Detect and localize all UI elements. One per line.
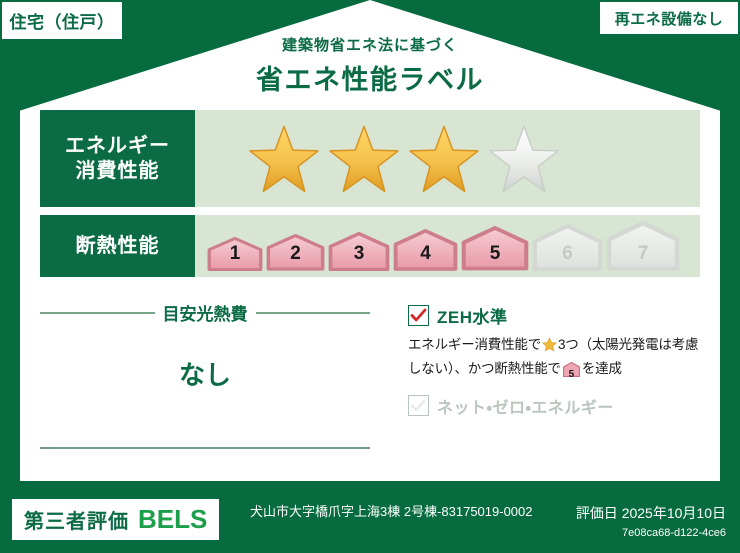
star-filled-icon [407, 123, 481, 195]
star-empty-icon [487, 123, 561, 195]
label-subtitle: 建築物省エネ法に基づく [0, 34, 740, 55]
energy-performance-label-line1: エネルギー [65, 134, 170, 159]
insulation-rank-4: 4 [393, 229, 458, 271]
check-icon [410, 308, 427, 323]
badge-renewable-equipment-label: 再エネ設備なし [615, 8, 724, 29]
inline-house-badge-number: 5 [563, 367, 580, 383]
zeh-checkbox[interactable] [408, 305, 429, 326]
energy-performance-label-line2: 消費性能 [76, 159, 160, 184]
label-title-block: 建築物省エネ法に基づく 省エネ性能ラベル [0, 34, 740, 97]
insulation-rank-number: 3 [328, 243, 390, 265]
bels-logo-jp: 第三者評価 [24, 505, 129, 534]
insulation-rank-3: 3 [328, 232, 390, 271]
insulation-rank-2: 2 [266, 234, 325, 271]
inline-house-badge: 5 [563, 362, 580, 384]
energy-performance-value [195, 110, 700, 207]
net-zero-energy-row: ネット・ゼロ・エネルギー [408, 394, 708, 418]
bels-energy-label: 住宅（住戸） 再エネ設備なし 建築物省エネ法に基づく 省エネ性能ラベル エネルギ… [0, 0, 740, 553]
label-title: 省エネ性能ラベル [0, 58, 740, 97]
badge-renewable-equipment: 再エネ設備なし [598, 0, 740, 36]
zeh-section: ZEH水準 エネルギー消費性能で3つ（太陽光発電は考慮しない）、かつ断熱性能で5… [408, 303, 708, 418]
insulation-rank-number: 5 [461, 243, 529, 265]
insulation-rank-number: 6 [532, 243, 603, 265]
star-filled-icon [247, 123, 321, 195]
utility-cost-value: なし [40, 355, 370, 392]
bels-logo-en: BELS [138, 504, 207, 535]
zeh-description-part3: を達成 [582, 361, 622, 376]
utility-cost-heading: 目安光熱費 [40, 300, 370, 325]
badge-building-type-label: 住宅（住戸） [10, 8, 115, 33]
insulation-rank-number: 7 [606, 243, 680, 265]
check-icon-faint [410, 398, 427, 413]
insulation-rank-number: 1 [207, 243, 263, 265]
bels-logo: 第三者評価 BELS [12, 499, 219, 540]
footer-bar: 第三者評価 BELS 犬山市大字橋爪字上海3棟 2号棟-83175019-000… [0, 481, 740, 553]
zeh-heading: ZEH水準 [408, 303, 708, 328]
evaluation-info: 評価日 2025年10月10日 7e08ca68-d122-4ce6 [576, 503, 726, 539]
star-filled-icon [327, 123, 401, 195]
zeh-description-part1: エネルギー消費性能で [408, 337, 541, 352]
insulation-rank-7: 7 [606, 221, 680, 271]
evaluation-id: 7e08ca68-d122-4ce6 [576, 527, 726, 539]
insulation-performance-label-text: 断熱性能 [76, 234, 160, 259]
star-rating [195, 123, 561, 195]
net-zero-checkbox[interactable] [408, 395, 429, 416]
insulation-rank-scale: 1234567 [195, 221, 680, 271]
utility-cost-heading-text: 目安光熱費 [163, 300, 248, 325]
inline-star-icon [542, 340, 557, 355]
insulation-rank-number: 2 [266, 243, 325, 265]
heading-rule-left [40, 312, 155, 314]
insulation-rank-5: 5 [461, 226, 529, 270]
insulation-rank-number: 4 [393, 243, 458, 265]
energy-performance-label: エネルギー 消費性能 [40, 110, 195, 207]
evaluation-date: 評価日 2025年10月10日 [576, 503, 726, 523]
net-zero-energy-label: ネット・ゼロ・エネルギー [437, 394, 614, 418]
section-divider [40, 447, 370, 449]
insulation-rank-6: 6 [532, 224, 603, 271]
insulation-performance-value: 1234567 [195, 215, 700, 277]
property-address: 犬山市大字橋爪字上海3棟 2号棟-83175019-0002 [250, 503, 540, 521]
zeh-title: ZEH水準 [437, 303, 508, 328]
heading-rule-right [256, 312, 371, 314]
insulation-performance-label: 断熱性能 [40, 215, 195, 277]
zeh-description: エネルギー消費性能で3つ（太陽光発電は考慮しない）、かつ断熱性能で5を達成 [408, 335, 708, 384]
rating-rows: エネルギー 消費性能 断熱性能 1234567 [40, 110, 700, 285]
insulation-rank-1: 1 [207, 237, 263, 271]
energy-performance-row: エネルギー 消費性能 [40, 110, 700, 207]
insulation-performance-row: 断熱性能 1234567 [40, 215, 700, 277]
